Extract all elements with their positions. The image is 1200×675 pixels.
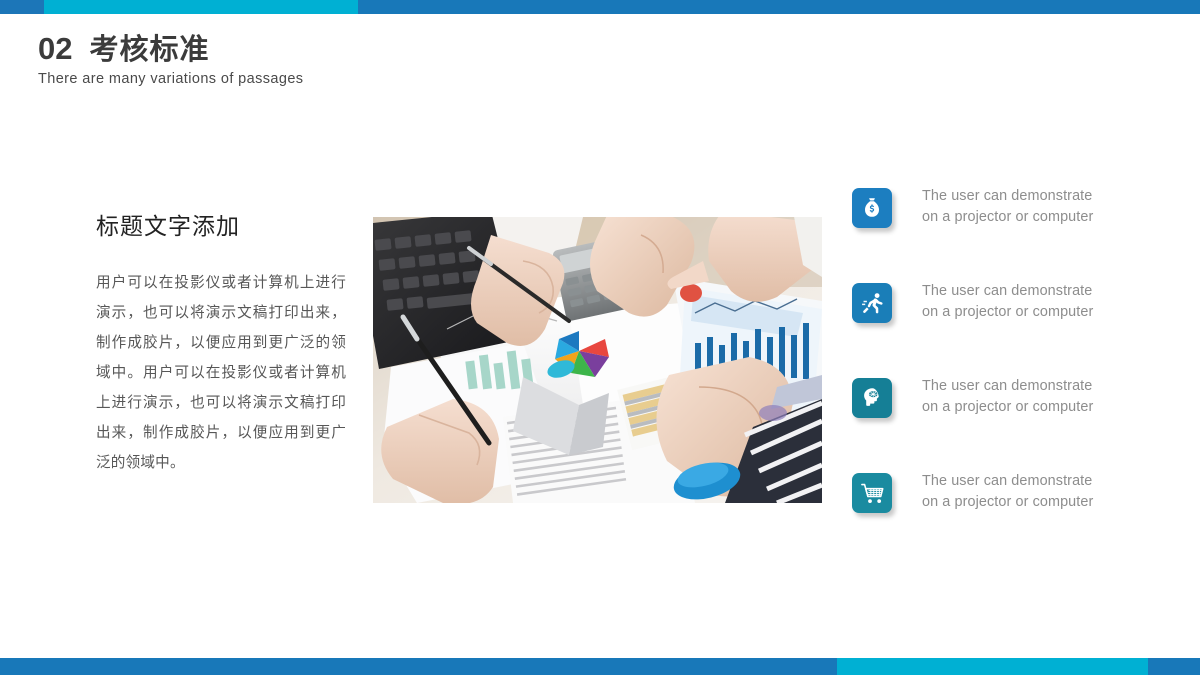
feature-item-3-label: The user can demonstrate on a projector …	[922, 376, 1093, 418]
page-subtitle: There are many variations of passages	[38, 71, 303, 87]
feature-item-1[interactable]: The user can demonstrate on a projector …	[852, 188, 1162, 283]
bottom-decoration-bar	[0, 658, 1200, 675]
feature-item-2-label: The user can demonstrate on a projector …	[922, 281, 1093, 323]
top-bar-segment-left	[0, 0, 44, 14]
head-brain-icon[interactable]	[852, 378, 892, 418]
feature-item-1-label: The user can demonstrate on a projector …	[922, 186, 1093, 228]
money-bag-icon[interactable]	[852, 188, 892, 228]
feature-list: The user can demonstrate on a projector …	[852, 188, 1162, 515]
left-column-body: 用户可以在投影仪或者计算机上进行演示，也可以将演示文稿打印出来，制作成胶片，以便…	[96, 268, 346, 478]
top-bar-segment-right	[358, 0, 1200, 14]
left-column-title: 标题文字添加	[96, 207, 346, 241]
header-title-row: 02 考核标准	[38, 26, 303, 68]
bottom-bar-segment-accent	[837, 658, 1148, 675]
top-bar-segment-accent	[44, 0, 358, 14]
top-decoration-bar	[0, 0, 1200, 14]
left-text-column: 标题文字添加 用户可以在投影仪或者计算机上进行演示，也可以将演示文稿打印出来，制…	[96, 207, 346, 478]
content-photo	[373, 217, 822, 503]
section-number: 02	[38, 31, 72, 67]
bottom-bar-segment-left	[0, 658, 837, 675]
bottom-bar-segment-right	[1148, 658, 1200, 675]
page-title: 考核标准	[89, 26, 209, 68]
running-person-icon[interactable]	[852, 283, 892, 323]
slide-header: 02 考核标准 There are many variations of pas…	[38, 26, 303, 87]
feature-item-3[interactable]: The user can demonstrate on a projector …	[852, 378, 1162, 473]
feature-item-4[interactable]: The user can demonstrate on a projector …	[852, 473, 1162, 515]
feature-item-2[interactable]: The user can demonstrate on a projector …	[852, 283, 1162, 378]
shopping-cart-icon[interactable]	[852, 473, 892, 513]
feature-item-4-label: The user can demonstrate on a projector …	[922, 471, 1093, 513]
